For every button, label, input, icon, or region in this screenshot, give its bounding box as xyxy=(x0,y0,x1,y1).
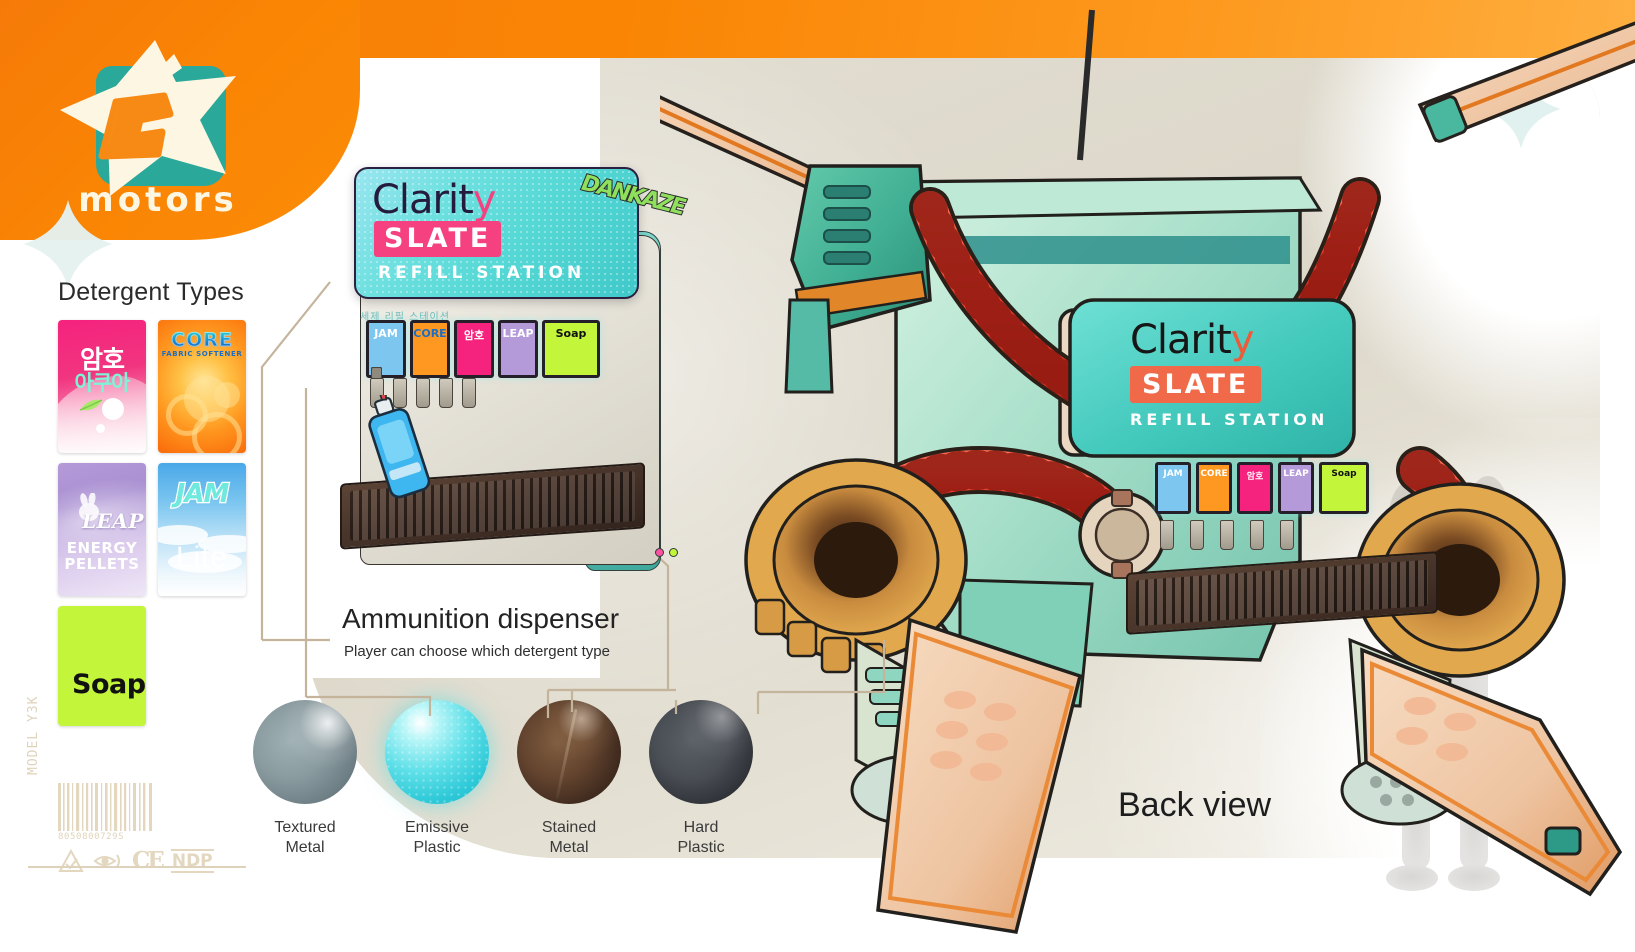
dispenser-slot-core[interactable]: CORE xyxy=(410,320,450,378)
star-badge-logo-icon xyxy=(58,38,244,198)
dispenser-slot-label-jam: JAM xyxy=(369,327,403,340)
brand-logo[interactable]: motors xyxy=(58,38,258,213)
dispenser-indicator-lights xyxy=(655,548,678,557)
swatch-amho-aqua[interactable]: 암호 아쿠아 xyxy=(58,320,146,453)
material-textured-metal[interactable]: TexturedMetal xyxy=(245,700,365,858)
robot-hose-collar xyxy=(1080,490,1164,578)
material-label-hard-plastic: HardPlastic xyxy=(641,818,761,858)
robot-dispenser-slot-leap[interactable]: LEAP xyxy=(1278,462,1314,514)
robot-nozzle[interactable] xyxy=(1160,520,1174,550)
barcode-icon xyxy=(58,783,156,831)
material-sphere-textured-metal xyxy=(253,700,357,804)
robot-dispenser-slot-label-amho: 암호 xyxy=(1240,469,1270,482)
ce-mark-label: CE xyxy=(132,847,162,874)
robot-sign-textblock: Clarity SLATE REFILL STATION xyxy=(1130,320,1400,429)
dispenser-slot-soap[interactable]: Soap xyxy=(542,320,600,378)
dispenser-slot-label-soap: Soap xyxy=(545,327,597,340)
dispenser-nozzle[interactable] xyxy=(439,378,453,408)
dispenser-slot-leap[interactable]: LEAP xyxy=(498,320,538,378)
material-emissive-plastic[interactable]: EmissivePlastic xyxy=(377,700,497,858)
swatch-jam-lite[interactable]: JAM Lite xyxy=(158,463,246,596)
material-hard-plastic[interactable]: HardPlastic xyxy=(641,700,761,858)
footer-rule xyxy=(28,866,246,868)
swatch-leap-title: LEAP xyxy=(82,509,144,533)
robot-dispenser-slot-jam[interactable]: JAM xyxy=(1155,462,1191,514)
robot-nozzle-row xyxy=(1160,520,1294,550)
swatch-amho-line2: 아쿠아 xyxy=(58,367,146,397)
robot-antenna xyxy=(1080,10,1092,160)
dispenser-nozzle[interactable] xyxy=(462,378,476,408)
robot-dispenser-slot-row[interactable]: JAMCORE암호LEAPSoap xyxy=(1155,462,1369,514)
robot-dispenser-slot-label-leap: LEAP xyxy=(1281,469,1311,479)
robot-dispenser-slot-amho[interactable]: 암호 xyxy=(1237,462,1273,514)
core-disc-decor xyxy=(214,382,240,408)
robot-dispenser-slot-label-jam: JAM xyxy=(1158,469,1188,479)
material-stained-metal[interactable]: StainedMetal xyxy=(509,700,629,858)
indicator-light-pink xyxy=(655,548,664,557)
swatch-core-title: CORE xyxy=(158,329,246,351)
robot-sign-brand: Clarit xyxy=(1130,317,1231,363)
back-view-label: Back view xyxy=(1118,786,1271,825)
material-label-emissive-plastic: EmissivePlastic xyxy=(377,818,497,858)
robot-sign-brand-accent: y xyxy=(1231,317,1254,363)
model-code-label: MODEL Y3K xyxy=(26,696,41,775)
dispenser-sign-brand-accent: y xyxy=(473,177,496,223)
swatch-soap-title: Soap xyxy=(72,669,146,700)
swatch-leap-line2: PELLETS xyxy=(58,555,146,573)
robot-dispenser-slot-label-core: CORE xyxy=(1199,469,1229,479)
robot-nozzle[interactable] xyxy=(1220,520,1234,550)
nozzle-handle-icon[interactable] xyxy=(371,367,382,379)
robot-foot-plate-left xyxy=(878,620,1080,932)
robot-foot-plate-right xyxy=(1362,650,1620,894)
indicator-light-green xyxy=(669,548,678,557)
dispenser-sign-refill: REFILL STATION xyxy=(378,263,585,283)
ndp-mark-label: NDP xyxy=(171,849,214,873)
swatch-core[interactable]: CORE FABRIC SOFTENER xyxy=(158,320,246,453)
robot-nozzle[interactable] xyxy=(1190,520,1204,550)
material-sphere-emissive-plastic xyxy=(385,700,489,804)
dispenser-slot-row[interactable]: JAMCORE암호LEAPSoap xyxy=(366,320,600,378)
robot-right-wing xyxy=(1420,10,1635,143)
bubble-icon xyxy=(96,424,105,433)
robot-nozzle[interactable] xyxy=(1250,520,1264,550)
dispenser-slot-label-leap: LEAP xyxy=(501,327,535,340)
barcode-number: 8050800729S xyxy=(58,832,124,842)
swatch-soap[interactable]: Soap xyxy=(58,606,146,726)
robot-dispenser-slot-core[interactable]: CORE xyxy=(1196,462,1232,514)
dispenser-callout-subtitle: Player can choose which detergent type xyxy=(344,643,610,660)
dispenser-slot-amho[interactable]: 암호 xyxy=(454,320,494,378)
eye-scan-icon xyxy=(93,849,123,873)
ammunition-dispenser-illustration: Clarity SLATE REFILL STATION DANKAZE 세제 … xyxy=(330,145,690,615)
dispenser-slot-label-amho: 암호 xyxy=(457,327,491,343)
detergent-swatch-grid: 암호 아쿠아 CORE FABRIC SOFTENER xyxy=(58,320,248,726)
swatch-jam-subtitle: Lite xyxy=(158,541,246,575)
robot-dispenser-slot-soap[interactable]: Soap xyxy=(1319,462,1369,514)
core-ring-decor xyxy=(192,412,242,453)
material-label-textured-metal: TexturedMetal xyxy=(245,818,365,858)
robot-nozzle[interactable] xyxy=(1280,520,1294,550)
swatch-jam-title: JAM xyxy=(158,479,246,509)
material-label-stained-metal: StainedMetal xyxy=(509,818,629,858)
dispenser-slot-label-core: CORE xyxy=(413,327,447,340)
leaf-icon xyxy=(78,396,104,416)
dispenser-sign-slate: SLATE xyxy=(374,221,501,257)
material-sphere-stained-metal xyxy=(517,700,621,804)
concept-sheet-canvas: Clarity SLATE REFILL STATION JAMCORE암호LE… xyxy=(0,0,1635,952)
sidebar-title: Detergent Types xyxy=(58,278,244,307)
brand-name: motors xyxy=(58,180,258,220)
recycle-triangle-icon xyxy=(58,849,84,873)
robot-sign-refill: REFILL STATION xyxy=(1130,410,1400,429)
swatch-leap[interactable]: LEAP ENERGY PELLETS xyxy=(58,463,146,596)
dispenser-sign-brand: Clarit xyxy=(372,177,473,223)
bubble-icon xyxy=(102,398,124,420)
swatch-core-subtitle: FABRIC SOFTENER xyxy=(158,350,246,358)
detergent-bottle-icon xyxy=(368,395,430,503)
material-sphere-hard-plastic xyxy=(649,700,753,804)
robot-sign-slate: SLATE xyxy=(1130,366,1261,403)
certification-row: CE NDP xyxy=(58,847,214,874)
robot-dispenser-slot-label-soap: Soap xyxy=(1322,469,1366,479)
